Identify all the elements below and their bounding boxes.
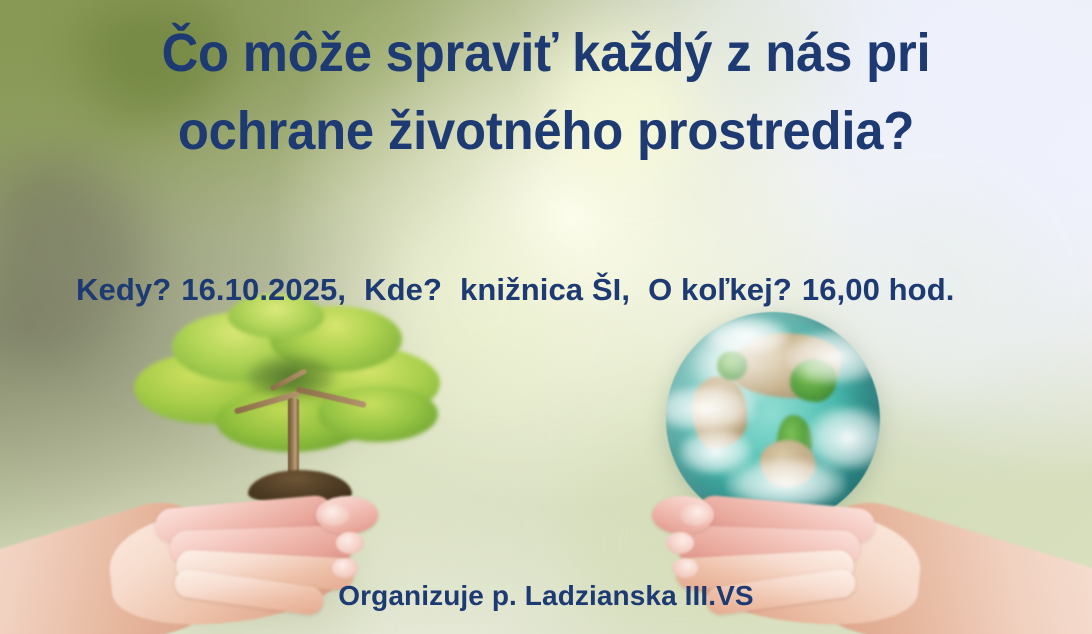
globe-cloud xyxy=(807,406,880,470)
event-details-line: Kedy?16.10.2025,Kde?knižnica ŠI,O koľkej… xyxy=(0,270,1092,310)
tree-trunk xyxy=(288,398,299,480)
globe-cloud xyxy=(726,458,846,509)
finger xyxy=(696,494,876,543)
globe-cloud xyxy=(666,385,756,432)
earth-globe xyxy=(666,312,880,526)
soil-clump xyxy=(248,470,352,504)
finger xyxy=(154,494,334,543)
where-label: Kde? xyxy=(364,272,442,307)
globe-landmass xyxy=(717,351,747,381)
globe-landmass xyxy=(777,415,811,471)
globe-cloud xyxy=(786,329,880,385)
organizer-line: Organizuje p. Ladzianska III.VS xyxy=(0,578,1092,614)
globe-cloud xyxy=(705,316,791,355)
when-label: Kedy? xyxy=(76,272,171,307)
tree-canopy-leaf xyxy=(280,346,440,420)
fingertip xyxy=(652,496,714,534)
page-title: Čo môže spraviť každý z nás pri ochrane … xyxy=(0,14,1092,170)
tree-canopy-leaf xyxy=(172,312,312,382)
globe-cloud xyxy=(679,428,752,475)
tree-canopy-leaf xyxy=(270,306,402,372)
tree-branch xyxy=(270,368,308,391)
fingernail xyxy=(320,504,350,526)
time-value: 16,00 hod. xyxy=(802,272,955,307)
tree-canopy-leaf xyxy=(216,390,366,452)
poster-canvas: Čo môže spraviť každý z nás pri ochrane … xyxy=(0,0,1092,634)
tree-canopy-shadow xyxy=(248,356,334,398)
title-line-1: Čo môže spraviť každý z nás pri xyxy=(33,14,1059,92)
time-label: O koľkej? xyxy=(648,272,792,307)
globe-landmass xyxy=(790,359,837,402)
fingernail xyxy=(332,558,358,578)
title-line-2: ochrane životného prostredia? xyxy=(33,92,1059,170)
fingernail xyxy=(336,532,364,554)
tree-canopy-leaf xyxy=(318,386,438,442)
fingernail xyxy=(666,532,694,554)
when-value: 16.10.2025, xyxy=(181,272,346,307)
finger xyxy=(169,525,356,565)
where-value: knižnica ŠI, xyxy=(460,272,630,307)
fingernail xyxy=(680,504,710,526)
finger xyxy=(673,525,860,565)
tree-illustration xyxy=(120,294,450,494)
fingernail xyxy=(672,558,698,578)
globe-highlight xyxy=(696,329,799,402)
fingertip xyxy=(316,496,378,534)
globe-landmass xyxy=(730,333,841,397)
tree-canopy-leaf xyxy=(134,352,284,424)
globe-landmass xyxy=(692,376,748,449)
globe-landmass xyxy=(760,440,816,487)
tree-branch xyxy=(295,386,367,408)
tree-branch xyxy=(234,390,301,415)
